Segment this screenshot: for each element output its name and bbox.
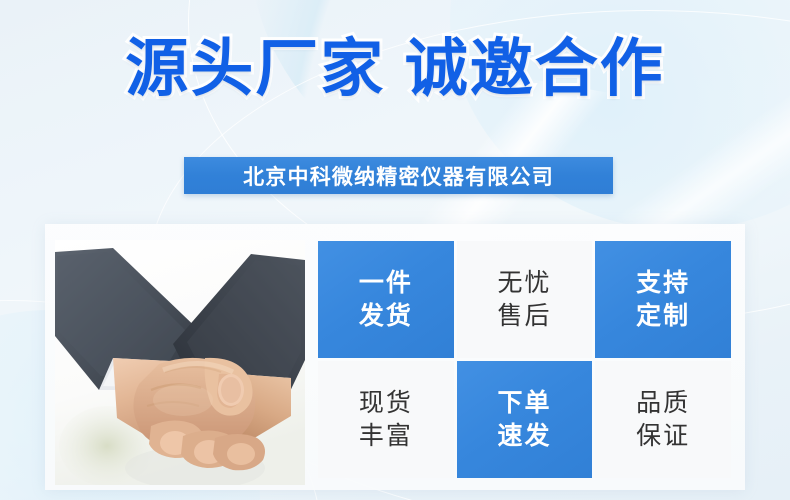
company-name-bar: 北京中科微纳精密仪器有限公司 xyxy=(184,157,613,194)
feature-cell-4: 下单 速发 xyxy=(457,361,593,478)
feature-cell-3-line2: 丰富 xyxy=(359,420,413,453)
feature-cell-5: 品质 保证 xyxy=(595,361,731,478)
feature-cell-4-line1: 下单 xyxy=(497,387,551,420)
feature-cell-1: 无忧 售后 xyxy=(457,241,593,358)
feature-cell-1-line1: 无忧 xyxy=(497,267,551,300)
feature-cell-2-line2: 定制 xyxy=(636,300,690,333)
handshake-photo xyxy=(55,240,305,485)
feature-cell-0-line1: 一件 xyxy=(359,267,413,300)
page-title: 源头厂家 诚邀合作 xyxy=(0,38,790,101)
feature-cell-3: 现货 丰富 xyxy=(318,361,454,478)
feature-cell-5-line2: 保证 xyxy=(636,420,690,453)
feature-cell-1-line2: 售后 xyxy=(497,300,551,333)
feature-cell-5-line1: 品质 xyxy=(636,387,690,420)
feature-cell-0-line2: 发货 xyxy=(359,300,413,333)
feature-grid: 一件 发货 无忧 售后 支持 定制 现货 丰富 下单 速发 品质 保证 xyxy=(318,241,731,478)
company-name-label: 北京中科微纳精密仪器有限公司 xyxy=(243,161,554,191)
feature-cell-3-line1: 现货 xyxy=(359,387,413,420)
feature-cell-2-line1: 支持 xyxy=(636,267,690,300)
feature-cell-0: 一件 发货 xyxy=(318,241,454,358)
feature-cell-4-line2: 速发 xyxy=(497,420,551,453)
feature-cell-2: 支持 定制 xyxy=(595,241,731,358)
promo-banner: 源头厂家 诚邀合作 北京中科微纳精密仪器有限公司 xyxy=(0,0,790,500)
